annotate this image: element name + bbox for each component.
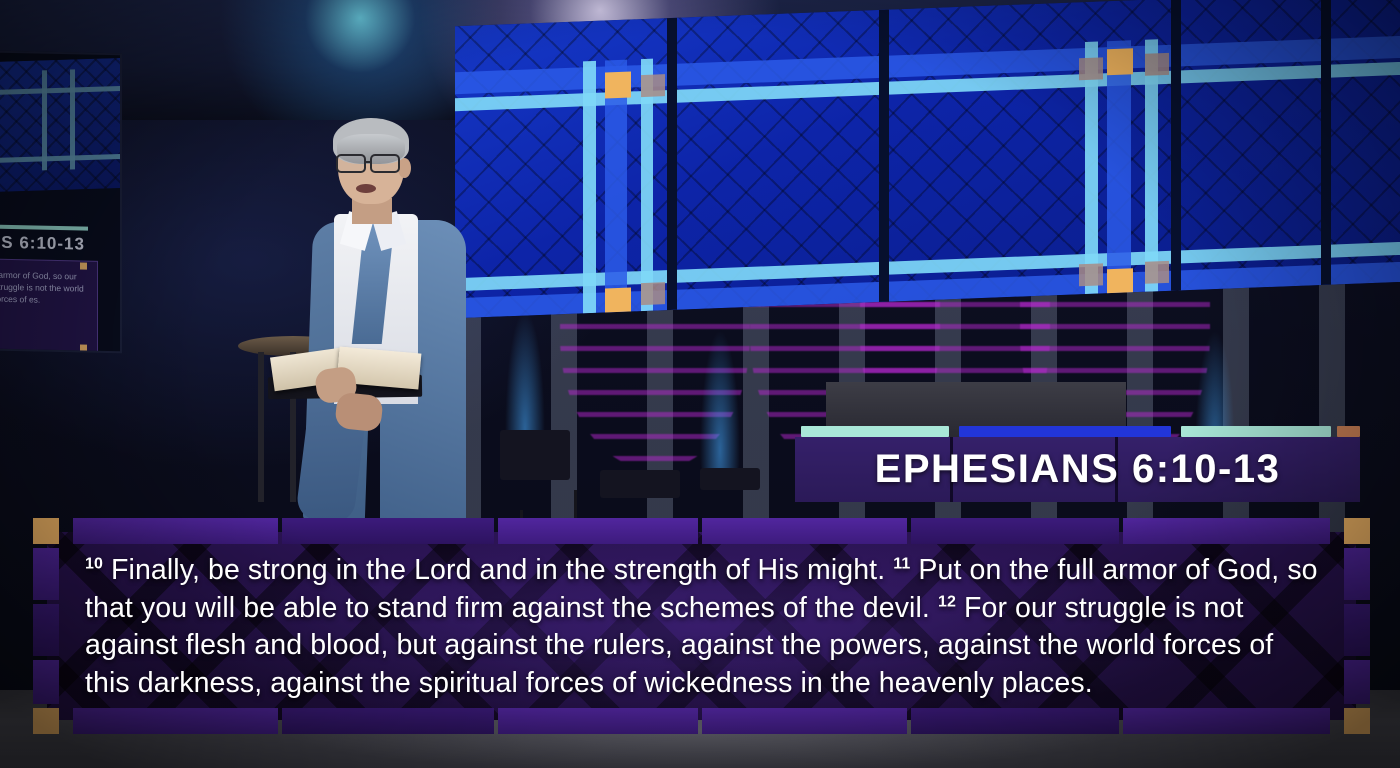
scripture-reference-banner: EPHESIANS 6:10-13 [795, 426, 1360, 502]
scripture-reference-text: EPHESIANS 6:10-13 [795, 437, 1360, 502]
accent-bar-segment [801, 426, 949, 437]
frame-tile [1344, 548, 1370, 600]
frame-tile [702, 708, 907, 734]
stage-equipment [500, 430, 570, 480]
mouth [356, 184, 376, 193]
frame-tile [73, 518, 278, 544]
monitor-verse-text: l armor of God, so our struggle is not t… [0, 265, 96, 311]
monitor-led-wall-feed [0, 57, 122, 193]
frame-tile [1123, 518, 1330, 544]
frame-corner [33, 518, 59, 544]
stage-equipment [600, 470, 680, 498]
monitor-accent-bar [0, 225, 88, 231]
frame-tile [33, 660, 59, 704]
accent-bar-segment [1181, 426, 1331, 437]
led-stained-glass-wall [455, 0, 1400, 318]
monitor-corner-accent [80, 344, 87, 351]
broadcast-frame: NS 6:10-13 l armor of God, so our strugg… [0, 0, 1400, 768]
frame-tile [911, 518, 1119, 544]
frame-tile [33, 604, 59, 656]
frame-tile [282, 708, 494, 734]
frame-tile [282, 518, 494, 544]
scripture-lower-third: 10 Finally, be strong in the Lord and in… [33, 518, 1370, 734]
frame-corner [1344, 518, 1370, 544]
accent-bar-segment [959, 426, 1171, 437]
eyeglasses [336, 154, 408, 174]
frame-tile [1344, 660, 1370, 704]
stage-uplight [700, 330, 740, 480]
frame-tile [33, 548, 59, 600]
monitor-title: NS 6:10-13 [0, 233, 85, 255]
frame-corner [33, 708, 59, 734]
frame-tile [1344, 604, 1370, 656]
stage-equipment [700, 468, 760, 490]
accent-bar-segment [1337, 426, 1360, 437]
scripture-text: 10 Finally, be strong in the Lord and in… [85, 552, 1325, 708]
frame-tile [1123, 708, 1330, 734]
frame-tile [702, 518, 907, 544]
frame-tile [498, 708, 698, 734]
frame-tile [498, 518, 698, 544]
confidence-monitor: NS 6:10-13 l armor of God, so our strugg… [0, 51, 122, 354]
hand [334, 392, 384, 433]
frame-tile [73, 708, 278, 734]
frame-corner [1344, 708, 1370, 734]
table-leg [258, 352, 264, 502]
frame-tile [911, 708, 1119, 734]
